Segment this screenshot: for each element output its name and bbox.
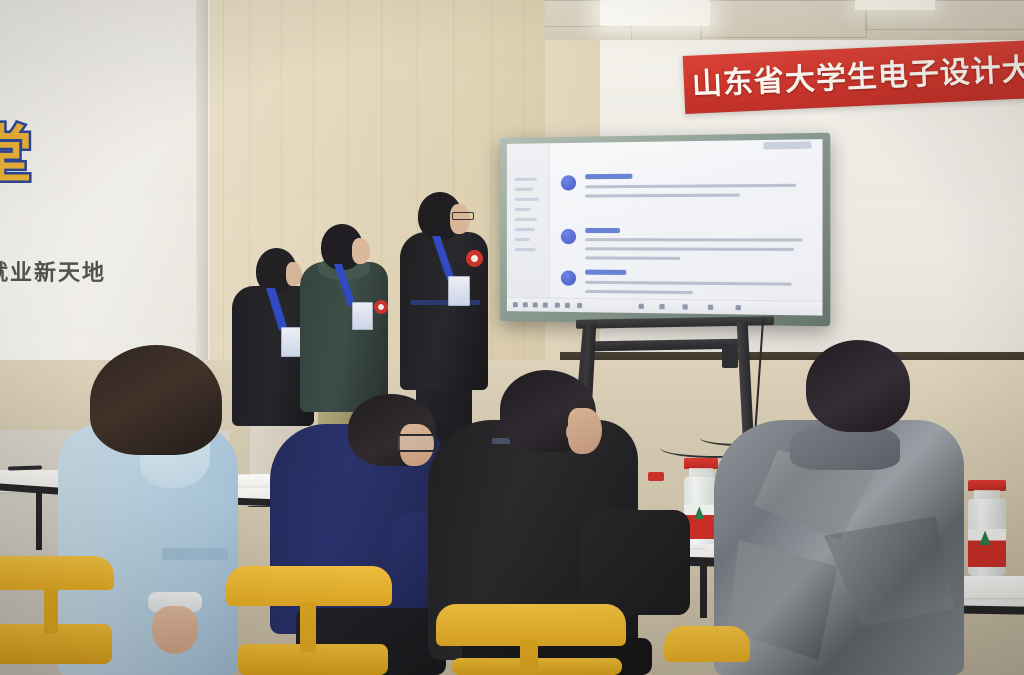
id-badge (448, 276, 470, 306)
water-bottle[interactable] (968, 480, 1006, 576)
toolbar-icon[interactable] (533, 302, 538, 307)
user-avatar-icon (561, 229, 576, 244)
display-screen[interactable] (507, 139, 823, 315)
hair (90, 345, 222, 455)
toolbar-icon[interactable] (555, 303, 560, 308)
toolbar-icon[interactable] (523, 302, 528, 307)
message-line (585, 184, 796, 189)
toolbar-icon[interactable] (708, 305, 713, 310)
chair-support (300, 602, 316, 652)
leaf-icon (694, 506, 704, 519)
arm (580, 510, 690, 615)
toolbar-icon[interactable] (639, 304, 644, 309)
desk-leg (700, 562, 707, 618)
photo-scene: 堂 就业新天地 山东省大学生电子设计大赛-单 (0, 0, 1024, 675)
desk-leg (36, 492, 42, 550)
floor-marker (648, 472, 664, 481)
coat-belt (162, 548, 228, 560)
bottle-body (968, 499, 1006, 576)
ceiling-light-panel (600, 0, 710, 26)
jacket-facet (824, 516, 954, 626)
toolbar-icon[interactable] (543, 303, 548, 308)
user-avatar-icon (561, 270, 576, 285)
leaf-icon (979, 531, 990, 545)
chair-support (44, 588, 58, 634)
toolbar-icon[interactable] (736, 305, 741, 310)
hand (152, 606, 198, 654)
glasses-icon (396, 434, 436, 452)
wall-decal-logo: 堂 (0, 112, 80, 198)
chair-backrest[interactable] (664, 626, 750, 662)
toolbar-icon[interactable] (577, 303, 582, 308)
user-avatar-icon (561, 175, 576, 190)
message-line (585, 238, 803, 241)
red-rosette-pin (374, 300, 388, 314)
screen-sidebar[interactable] (507, 143, 550, 311)
toolbar-icon[interactable] (682, 304, 687, 309)
bottle-label (968, 529, 1006, 567)
screen-message (561, 173, 814, 175)
ceiling-tile (700, 0, 867, 38)
message-line (585, 194, 740, 198)
id-badge (352, 302, 373, 330)
toolbar-icon[interactable] (565, 303, 570, 308)
chair-backrest[interactable] (226, 566, 392, 606)
glasses-icon (452, 212, 474, 220)
chair-backrest[interactable] (0, 556, 114, 590)
screen-message (561, 270, 814, 272)
ceiling-light-panel (855, 0, 935, 10)
message-title (585, 270, 626, 275)
jacket-logo-tag (492, 438, 510, 444)
screen-status-badge (764, 141, 812, 149)
chair-support (520, 640, 538, 675)
head (806, 340, 910, 432)
toolbar-icon[interactable] (513, 302, 518, 307)
message-line (585, 256, 680, 260)
display-stand-control-box (722, 344, 738, 368)
message-line (585, 290, 693, 294)
student-face (352, 238, 370, 264)
message-title (585, 174, 632, 180)
message-line (585, 281, 792, 286)
message-title (585, 228, 620, 233)
wall-decal-subtitle: 就业新天地 (0, 255, 186, 287)
red-rosette-pin (466, 250, 483, 267)
message-line (585, 247, 794, 251)
interactive-display[interactable] (500, 133, 830, 327)
toolbar-icon[interactable] (659, 304, 664, 309)
